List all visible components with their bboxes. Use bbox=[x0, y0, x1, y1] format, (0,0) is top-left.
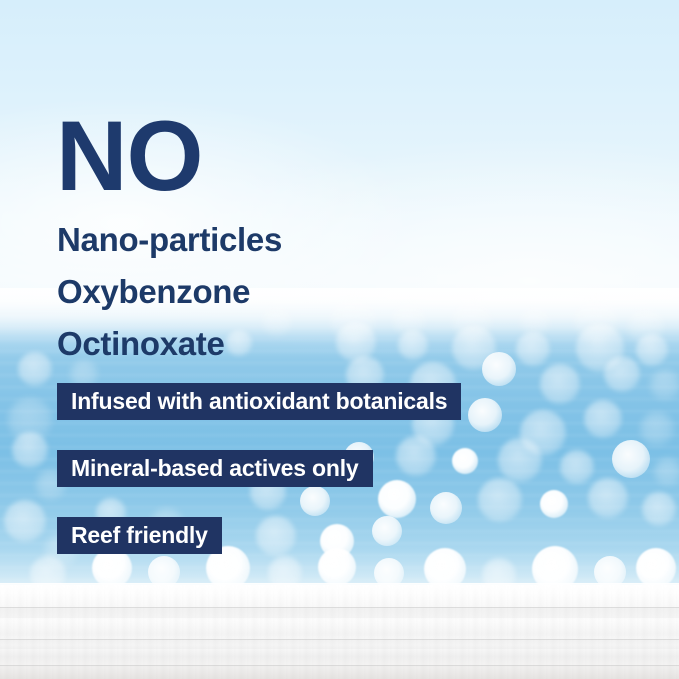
claim-badge-row: Reef friendly bbox=[57, 517, 461, 554]
excluded-ingredient-item: Octinoxate bbox=[57, 318, 457, 370]
claim-badge-list: Infused with antioxidant botanicals Mine… bbox=[57, 383, 461, 554]
poster-content: NO Nano-particles Oxybenzone Octinoxate … bbox=[0, 0, 679, 679]
excluded-ingredients-list: Nano-particles Oxybenzone Octinoxate bbox=[57, 214, 457, 370]
excluded-ingredient-item: Nano-particles bbox=[57, 214, 457, 266]
excluded-ingredient-item: Oxybenzone bbox=[57, 266, 457, 318]
claim-badge: Mineral-based actives only bbox=[57, 450, 373, 487]
claim-badge: Reef friendly bbox=[57, 517, 222, 554]
claim-badge: Infused with antioxidant botanicals bbox=[57, 383, 461, 420]
claim-badge-row: Mineral-based actives only bbox=[57, 450, 461, 487]
claim-badge-row: Infused with antioxidant botanicals bbox=[57, 383, 461, 420]
product-claims-poster: NO Nano-particles Oxybenzone Octinoxate … bbox=[0, 0, 679, 679]
headline-no: NO bbox=[56, 106, 203, 205]
